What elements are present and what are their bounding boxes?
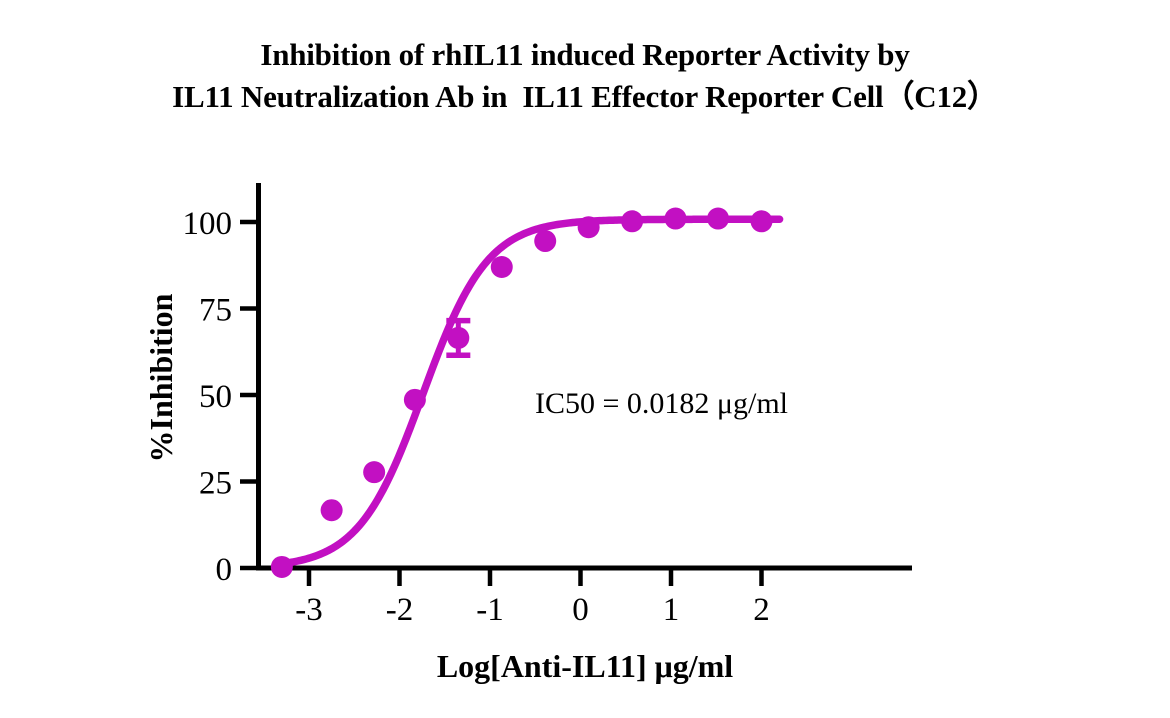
y-tick-label-100: 100 — [183, 206, 233, 242]
data-point-marker — [665, 208, 687, 230]
y-axis-title: %Inhibition — [143, 293, 179, 462]
x-axis-title: Log[Anti-IL11] μg/ml — [437, 648, 733, 684]
data-point-marker — [321, 499, 343, 521]
data-point-marker — [404, 389, 426, 411]
x-tick-label-1: 1 — [663, 592, 680, 628]
y-tick-labels: 100 75 50 25 0 — [183, 206, 233, 588]
plot-area: 100 75 50 25 0 -3 -2 -1 0 1 2 Log[Anti-I… — [0, 0, 1170, 718]
y-tick-label-0: 0 — [216, 552, 233, 588]
data-point-marker — [491, 256, 513, 278]
x-tick-labels: -3 -2 -1 0 1 2 — [295, 592, 770, 628]
x-tick-label-neg1: -1 — [476, 592, 504, 628]
data-point-marker — [271, 556, 293, 578]
data-point-marker — [707, 208, 729, 230]
data-point-marker — [534, 230, 556, 252]
x-tick-label-neg3: -3 — [295, 592, 323, 628]
y-tick-label-50: 50 — [199, 379, 232, 415]
chart-page: Inhibition of rhIL11 induced Reporter Ac… — [0, 0, 1170, 718]
data-point-marker — [751, 210, 773, 232]
chart-svg: 100 75 50 25 0 -3 -2 -1 0 1 2 Log[Anti-I… — [0, 0, 1170, 718]
x-tick-label-2: 2 — [753, 592, 770, 628]
x-tick-label-neg2: -2 — [386, 592, 414, 628]
data-point-marker — [447, 327, 469, 349]
x-tick-marks — [309, 568, 762, 586]
y-tick-marks — [240, 222, 258, 568]
y-tick-label-25: 25 — [199, 466, 232, 502]
y-tick-label-75: 75 — [199, 293, 232, 329]
x-tick-label-0: 0 — [572, 592, 589, 628]
data-point-marker — [578, 216, 600, 238]
ic50-annotation: IC50 = 0.0182 μg/ml — [535, 387, 788, 420]
data-point-marker — [621, 210, 643, 232]
data-point-marker — [363, 461, 385, 483]
